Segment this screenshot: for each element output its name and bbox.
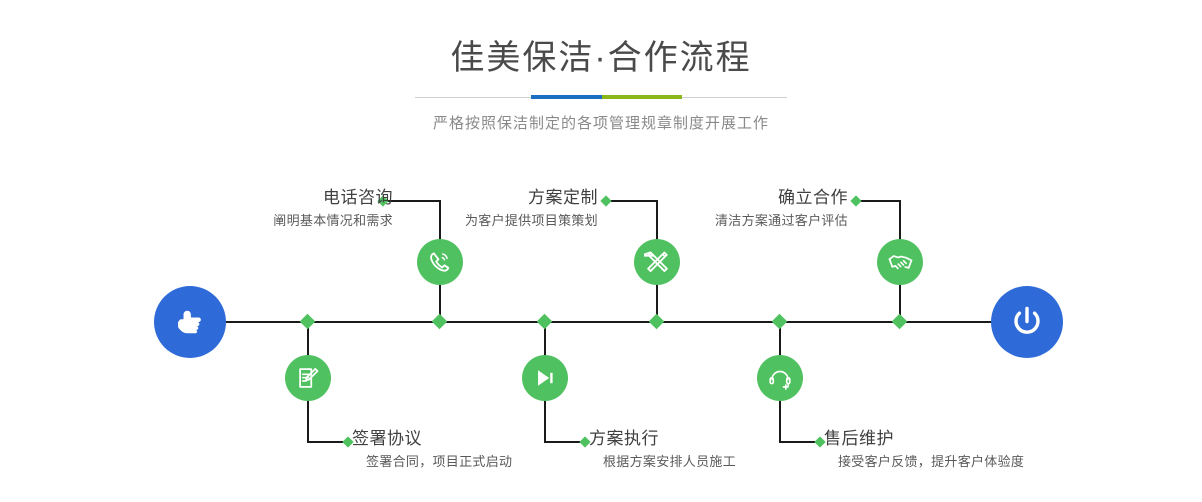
power-icon [1006, 301, 1048, 343]
axis-diamond-step-5 [892, 314, 908, 330]
step-label-1: 电话咨询 阐明基本情况和需求 [148, 186, 393, 232]
step-title-2: 签署协议 [352, 427, 512, 451]
process-flow-infographic: 佳美保洁·合作流程 严格按照保洁制定的各项管理规章制度开展工作 [0, 0, 1202, 502]
step-desc-3: 为客户提供项目策策划 [370, 210, 598, 232]
step-label-5: 确立合作 清洁方案通过客户评估 [620, 186, 848, 232]
timeline-axis [163, 321, 1039, 323]
flow-diagram: 电话咨询 阐明基本情况和需求 签署协议 签署合同，项目正式启动 [0, 0, 1202, 502]
customer-service-add-icon [767, 365, 793, 391]
flow-node-step-4[interactable] [522, 355, 568, 401]
step-label-3: 方案定制 为客户提供项目策策划 [370, 186, 598, 232]
flow-node-step-2[interactable] [285, 355, 331, 401]
axis-diamond-step-3 [649, 314, 665, 330]
step-desc-4: 根据方案安排人员施工 [589, 451, 736, 473]
flow-start-node[interactable] [154, 286, 226, 358]
label-marker-step-3 [600, 195, 611, 206]
flow-end-node[interactable] [991, 286, 1063, 358]
pencil-ruler-icon [644, 249, 671, 276]
handshake-icon [887, 249, 914, 276]
step-title-5: 确立合作 [620, 186, 848, 210]
step-desc-1: 阐明基本情况和需求 [148, 210, 393, 232]
document-edit-icon [295, 365, 321, 391]
play-execute-icon [532, 365, 558, 391]
axis-diamond-step-1 [432, 314, 448, 330]
step-desc-5: 清洁方案通过客户评估 [620, 210, 848, 232]
step-label-4: 方案执行 根据方案安排人员施工 [589, 427, 736, 473]
flow-node-step-1[interactable] [417, 239, 463, 285]
connector-horizontal-step-5 [857, 200, 900, 202]
pointing-hand-icon [170, 302, 210, 342]
axis-diamond-step-2 [300, 314, 316, 330]
step-label-2: 签署协议 签署合同，项目正式启动 [352, 427, 512, 473]
step-desc-2: 签署合同，项目正式启动 [352, 451, 512, 473]
step-label-6: 售后维护 接受客户反馈，提升客户体验度 [824, 427, 1024, 473]
step-title-1: 电话咨询 [148, 186, 393, 210]
axis-diamond-step-4 [537, 314, 553, 330]
phone-call-icon [427, 249, 454, 276]
flow-node-step-5[interactable] [877, 239, 923, 285]
step-title-4: 方案执行 [589, 427, 736, 451]
step-title-6: 售后维护 [824, 427, 1024, 451]
label-marker-step-5 [850, 195, 861, 206]
flow-node-step-3[interactable] [634, 239, 680, 285]
step-title-3: 方案定制 [370, 186, 598, 210]
flow-node-step-6[interactable] [757, 355, 803, 401]
axis-diamond-step-6 [772, 314, 788, 330]
step-desc-6: 接受客户反馈，提升客户体验度 [824, 451, 1024, 473]
